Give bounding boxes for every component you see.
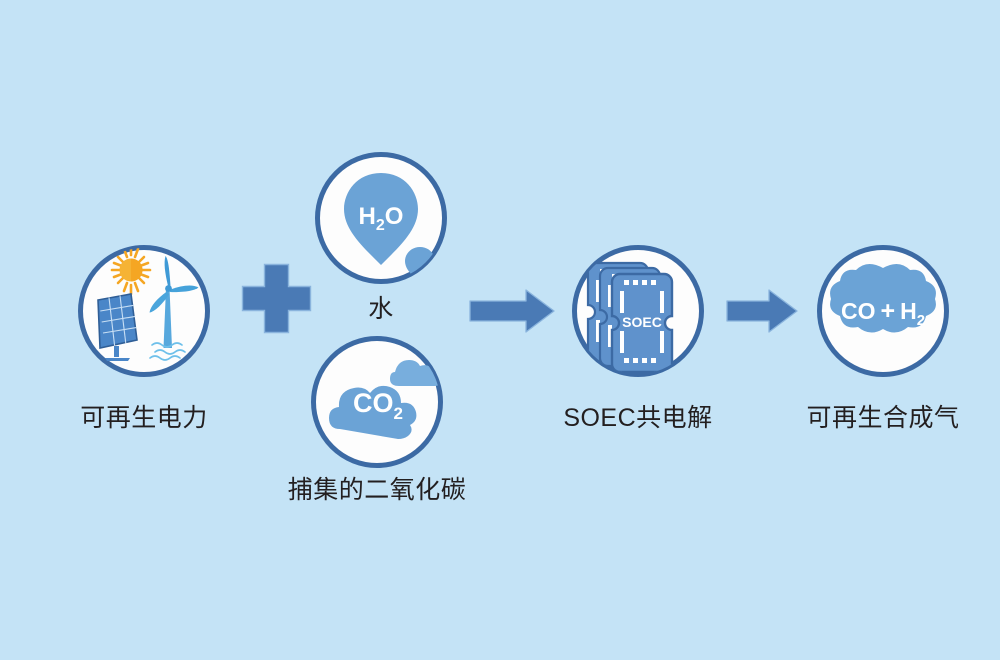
renewable-power-circle[interactable] [78, 245, 210, 377]
arrow-to-soec [470, 290, 554, 332]
plus-operator [243, 265, 311, 333]
process-flow-diagram: H2O CO2 [0, 0, 1000, 660]
co2-circle[interactable] [311, 336, 443, 468]
syngas-circle[interactable] [817, 245, 949, 377]
arrow-to-syngas [727, 290, 797, 332]
caption-renewable-power: 可再生电力 [44, 398, 244, 434]
soec-circle[interactable] [572, 245, 704, 377]
caption-syngas: 可再生合成气 [783, 398, 983, 434]
caption-soec: SOEC共电解 [538, 398, 738, 434]
caption-captured-co2: 捕集的二氧化碳 [267, 470, 487, 506]
caption-water: 水 [331, 289, 431, 325]
water-circle[interactable] [315, 152, 447, 284]
